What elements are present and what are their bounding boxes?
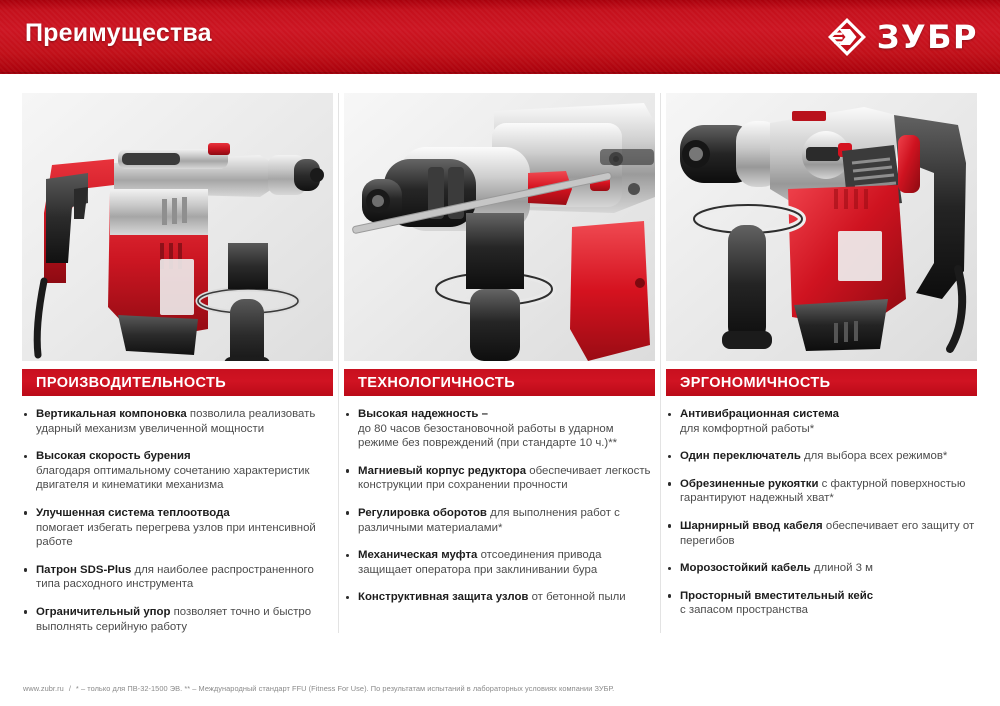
list-item: Антивибрационная системадля комфортной р…: [666, 407, 977, 436]
product-photo-chuck-closeup: [344, 93, 655, 361]
list-item: Магниевый корпус редуктора обеспечивает …: [344, 464, 655, 493]
section-title-bar-technology: ТЕХНОЛОГИЧНОСТЬ: [344, 369, 655, 396]
feature-bold: Конструктивная защита узлов: [358, 591, 528, 603]
feature-rest: до 80 часов безостановочной работы в уда…: [358, 423, 617, 450]
feature-bold: Регулировка оборотов: [358, 507, 487, 519]
list-item: Обрезиненные рукоятки с фактурной поверх…: [666, 477, 977, 506]
list-item: Морозостойкий кабель длиной 3 м: [666, 561, 977, 576]
column-ergonomics: ЭРГОНОМИЧНОСТЬ Антивибрационная системад…: [666, 93, 977, 647]
advantages-columns: ПРОИЗВОДИТЕЛЬНОСТЬ Вертикальная компонов…: [22, 93, 978, 647]
list-item: Ограничительный упор позволяет точно и б…: [22, 605, 333, 634]
feature-list-technology: Высокая надежность –до 80 часов безостан…: [344, 407, 655, 605]
feature-bold: Ограничительный упор: [36, 606, 170, 618]
footer-separator: /: [64, 684, 76, 693]
feature-rest: для комфортной работы*: [680, 423, 814, 435]
feature-bold: Патрон SDS-Plus: [36, 564, 131, 576]
feature-rest: от бетонной пыли: [528, 591, 625, 603]
list-item: Механическая муфта отсоединения привода …: [344, 548, 655, 577]
feature-bold: Просторный вместительный кейс: [680, 590, 873, 602]
product-photo-side-view: [22, 93, 333, 361]
footer-disclaimer: * – только для ПВ-32-1500 ЭВ. ** – Между…: [76, 684, 614, 693]
feature-rest: благодаря оптимальному сочетанию характе…: [36, 465, 309, 492]
zubr-diamond-arrow-icon: [826, 16, 868, 58]
list-item: Высокая надежность –до 80 часов безостан…: [344, 407, 655, 451]
footer-site-link[interactable]: www.zubr.ru: [23, 684, 64, 693]
feature-bold: Морозостойкий кабель: [680, 562, 811, 574]
list-item: Патрон SDS-Plus для наиболее распростран…: [22, 563, 333, 592]
page-header: Преимущества ЗУБР: [0, 0, 1000, 74]
brand-logo-text: ЗУБР: [877, 21, 978, 53]
feature-bold: Механическая муфта: [358, 549, 477, 561]
section-title-bar-performance: ПРОИЗВОДИТЕЛЬНОСТЬ: [22, 369, 333, 396]
feature-list-performance: Вертикальная компоновка позволила реализ…: [22, 407, 333, 634]
feature-bold: Вертикальная компоновка: [36, 408, 187, 420]
feature-rest: помогает избегать перегрева узлов при ин…: [36, 522, 316, 549]
list-item: Шарнирный ввод кабеля обеспечивает его з…: [666, 519, 977, 548]
feature-bold: Обрезиненные рукоятки: [680, 478, 818, 490]
section-title-text: ТЕХНОЛОГИЧНОСТЬ: [344, 375, 515, 391]
section-title-text: ЭРГОНОМИЧНОСТЬ: [666, 375, 830, 391]
list-item: Регулировка оборотов для выполнения рабо…: [344, 506, 655, 535]
feature-bold: Шарнирный ввод кабеля: [680, 520, 823, 532]
column-divider: [660, 93, 661, 633]
page-title: Преимущества: [25, 19, 212, 48]
list-item: Просторный вместительный кейсс запасом п…: [666, 589, 977, 618]
feature-list-ergonomics: Антивибрационная системадля комфортной р…: [666, 407, 977, 618]
section-title-text: ПРОИЗВОДИТЕЛЬНОСТЬ: [22, 375, 226, 391]
feature-bold: Магниевый корпус редуктора: [358, 465, 526, 477]
list-item: Вертикальная компоновка позволила реализ…: [22, 407, 333, 436]
feature-rest: для выбора всех режимов*: [801, 450, 947, 462]
product-photo-front-view: [666, 93, 977, 361]
column-divider: [338, 93, 339, 633]
advantages-page: Преимущества ЗУБР: [0, 0, 1000, 706]
feature-rest: длиной 3 м: [811, 562, 873, 574]
brand-logo: ЗУБР: [826, 17, 978, 57]
feature-bold: Высокая надежность –: [358, 408, 488, 420]
list-item: Улучшенная система теплоотводапомогает и…: [22, 506, 333, 550]
feature-rest: с запасом пространства: [680, 604, 808, 616]
list-item: Конструктивная защита узлов от бетонной …: [344, 590, 655, 605]
feature-bold: Антивибрационная система: [680, 408, 839, 420]
section-title-bar-ergonomics: ЭРГОНОМИЧНОСТЬ: [666, 369, 977, 396]
feature-bold: Один переключатель: [680, 450, 801, 462]
list-item: Высокая скорость буренияблагодаря оптима…: [22, 449, 333, 493]
feature-bold: Улучшенная система теплоотвода: [36, 507, 230, 519]
footer-note: www.zubr.ru/* – только для ПВ-32-1500 ЭВ…: [23, 684, 614, 693]
list-item: Один переключатель для выбора всех режим…: [666, 449, 977, 464]
column-performance: ПРОИЗВОДИТЕЛЬНОСТЬ Вертикальная компонов…: [22, 93, 333, 647]
feature-bold: Высокая скорость бурения: [36, 450, 191, 462]
column-technology: ТЕХНОЛОГИЧНОСТЬ Высокая надежность –до 8…: [344, 93, 655, 647]
